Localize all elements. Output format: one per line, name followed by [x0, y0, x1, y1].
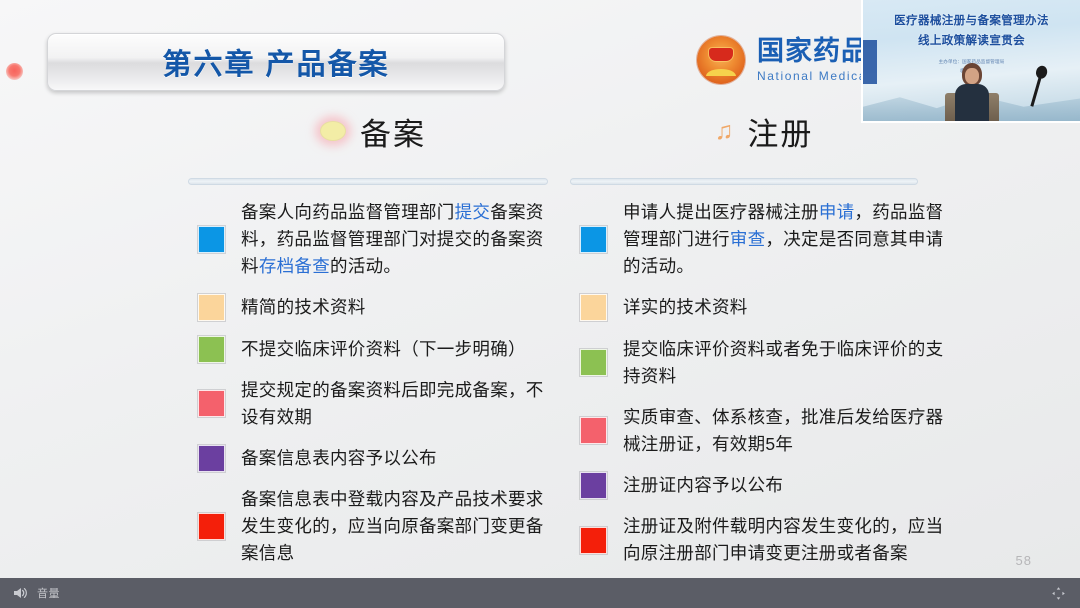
- bullet-item: 申请人提出医疗器械注册申请，药品监督管理部门进行审查，决定是否同意其申请的活动。: [580, 199, 958, 280]
- microphone-icon: [1030, 73, 1042, 107]
- highlighted-term: 申请: [819, 202, 855, 222]
- bullet-color-chip: [198, 513, 225, 540]
- bullet-text: 注册证内容予以公布: [623, 472, 783, 499]
- speaker-icon[interactable]: [12, 585, 28, 601]
- yellow-blob-icon: [320, 121, 346, 141]
- presenter-face: [965, 68, 979, 84]
- bullet-color-chip: [580, 417, 607, 444]
- highlighted-term: 存档备查: [259, 256, 330, 276]
- plain-text: 不提交临床评价资料（下一步明确）: [241, 339, 526, 359]
- bullet-item: 实质审查、体系核查，批准后发给医疗器械注册证，有效期5年: [580, 404, 958, 458]
- bullet-item: 备案信息表中登载内容及产品技术要求发生变化的，应当向原备案部门变更备案信息: [198, 486, 558, 567]
- bullet-item: 提交规定的备案资料后即完成备案，不设有效期: [198, 377, 558, 431]
- plain-text: 申请人提出医疗器械注册: [623, 202, 819, 222]
- slide-canvas: 第六章 产品备案 国家药品 National Medica 备案 备案人向药品监…: [0, 0, 1080, 578]
- plain-text: 实质审查、体系核查，批准后发给医疗器械注册证，有效期5年: [623, 407, 943, 454]
- bullet-item: 精简的技术资料: [198, 294, 558, 321]
- player-toolbar: 音量: [0, 578, 1080, 608]
- bullet-item: 详实的技术资料: [580, 294, 958, 321]
- plain-text: 提交规定的备案资料后即完成备案，不设有效期: [241, 380, 544, 427]
- bullet-text: 备案信息表内容予以公布: [241, 445, 437, 472]
- presentation-viewer: 第六章 产品备案 国家药品 National Medica 备案 备案人向药品监…: [0, 0, 1080, 608]
- pip-title: 医疗器械注册与备案管理办法 线上政策解读宣贯会: [863, 12, 1080, 51]
- bullet-color-chip: [580, 527, 607, 554]
- plain-text: 的活动。: [330, 256, 401, 276]
- slide-number: 58: [1016, 553, 1032, 568]
- chapter-title: 第六章 产品备案: [162, 41, 389, 83]
- logo-english-name: National Medica: [757, 70, 869, 82]
- volume-label: 音量: [37, 585, 60, 601]
- column-registration: ♫ 注册 申请人提出医疗器械注册申请，药品监督管理部门进行审查，决定是否同意其申…: [558, 106, 958, 578]
- bullet-color-chip: [198, 336, 225, 363]
- logo-chinese-name: 国家药品: [757, 38, 869, 65]
- plain-text: 备案信息表内容予以公布: [241, 448, 437, 468]
- highlighted-term: 提交: [455, 202, 491, 222]
- bullet-text: 不提交临床评价资料（下一步明确）: [241, 336, 526, 363]
- bullet-color-chip: [580, 226, 607, 253]
- bullet-color-chip: [198, 294, 225, 321]
- music-note-icon: ♫: [715, 119, 734, 144]
- bullet-color-chip: [198, 226, 225, 253]
- bullet-item: 备案人向药品监督管理部门提交备案资料，药品监督管理部门对提交的备案资料存档备查的…: [198, 199, 558, 280]
- bullet-text: 提交规定的备案资料后即完成备案，不设有效期: [241, 377, 558, 431]
- column-registration-divider: [570, 178, 918, 185]
- bullet-color-chip: [580, 294, 607, 321]
- logo-text-group: 国家药品 National Medica: [757, 38, 869, 82]
- column-registration-heading: 注册: [747, 109, 813, 154]
- plain-text: 详实的技术资料: [623, 297, 748, 317]
- bullet-item: 提交临床评价资料或者免于临床评价的支持资料: [580, 336, 958, 390]
- plain-text: 提交临床评价资料或者免于临床评价的支持资料: [623, 339, 943, 386]
- bullet-text: 提交临床评价资料或者免于临床评价的支持资料: [623, 336, 958, 390]
- fullscreen-icon[interactable]: [1051, 586, 1066, 601]
- video-overlay[interactable]: 医疗器械注册与备案管理办法 线上政策解读宣贯会 主办单位：国家药品监督管理局 承…: [861, 0, 1080, 123]
- bullet-item: 注册证及附件载明内容发生变化的，应当向原注册部门申请变更注册或者备案: [580, 513, 958, 567]
- bullet-item: 备案信息表内容予以公布: [198, 445, 558, 472]
- plain-text: 注册证内容予以公布: [623, 475, 783, 495]
- pip-title-line1: 医疗器械注册与备案管理办法: [863, 12, 1080, 32]
- bullet-text: 精简的技术资料: [241, 294, 366, 321]
- bullet-item: 不提交临床评价资料（下一步明确）: [198, 336, 558, 363]
- presenter-icon: [955, 63, 989, 121]
- decorative-dot: [6, 63, 23, 80]
- bullet-color-chip: [198, 390, 225, 417]
- column-filing-heading: 备案: [360, 109, 426, 154]
- presenter-body: [955, 84, 989, 122]
- column-registration-bullets: 申请人提出医疗器械注册申请，药品监督管理部门进行审查，决定是否同意其申请的活动。…: [570, 199, 958, 567]
- player-right-controls: [1051, 586, 1066, 601]
- plain-text: 精简的技术资料: [241, 297, 366, 317]
- bullet-color-chip: [198, 445, 225, 472]
- bullet-color-chip: [580, 349, 607, 376]
- bullet-item: 注册证内容予以公布: [580, 472, 958, 499]
- bullet-text: 实质审查、体系核查，批准后发给医疗器械注册证，有效期5年: [623, 404, 958, 458]
- column-filing-header: 备案: [188, 106, 558, 156]
- nmpa-logo: 国家药品 National Medica: [697, 36, 869, 84]
- bullet-text: 申请人提出医疗器械注册申请，药品监督管理部门进行审查，决定是否同意其申请的活动。: [623, 199, 958, 280]
- volume-control[interactable]: 音量: [12, 585, 60, 601]
- column-filing-divider: [188, 178, 548, 185]
- bullet-text: 详实的技术资料: [623, 294, 748, 321]
- chapter-title-plaque: 第六章 产品备案: [47, 33, 505, 91]
- pip-title-line2: 线上政策解读宣贯会: [863, 32, 1080, 52]
- bullet-text: 注册证及附件载明内容发生变化的，应当向原注册部门申请变更注册或者备案: [623, 513, 958, 567]
- plain-text: 注册证及附件载明内容发生变化的，应当向原注册部门申请变更注册或者备案: [623, 516, 943, 563]
- bullet-text: 备案人向药品监督管理部门提交备案资料，药品监督管理部门对提交的备案资料存档备查的…: [241, 199, 558, 280]
- comparison-columns: 备案 备案人向药品监督管理部门提交备案资料，药品监督管理部门对提交的备案资料存档…: [0, 106, 1080, 578]
- plain-text: 备案信息表中登载内容及产品技术要求发生变化的，应当向原备案部门变更备案信息: [241, 489, 544, 563]
- bullet-text: 备案信息表中登载内容及产品技术要求发生变化的，应当向原备案部门变更备案信息: [241, 486, 558, 567]
- column-filing-bullets: 备案人向药品监督管理部门提交备案资料，药品监督管理部门对提交的备案资料存档备查的…: [188, 199, 558, 567]
- bullet-color-chip: [580, 472, 607, 499]
- plain-text: 备案人向药品监督管理部门: [241, 202, 455, 222]
- national-emblem-icon: [697, 36, 745, 84]
- highlighted-term: 审查: [730, 229, 766, 249]
- column-filing: 备案 备案人向药品监督管理部门提交备案资料，药品监督管理部门对提交的备案资料存档…: [188, 106, 558, 578]
